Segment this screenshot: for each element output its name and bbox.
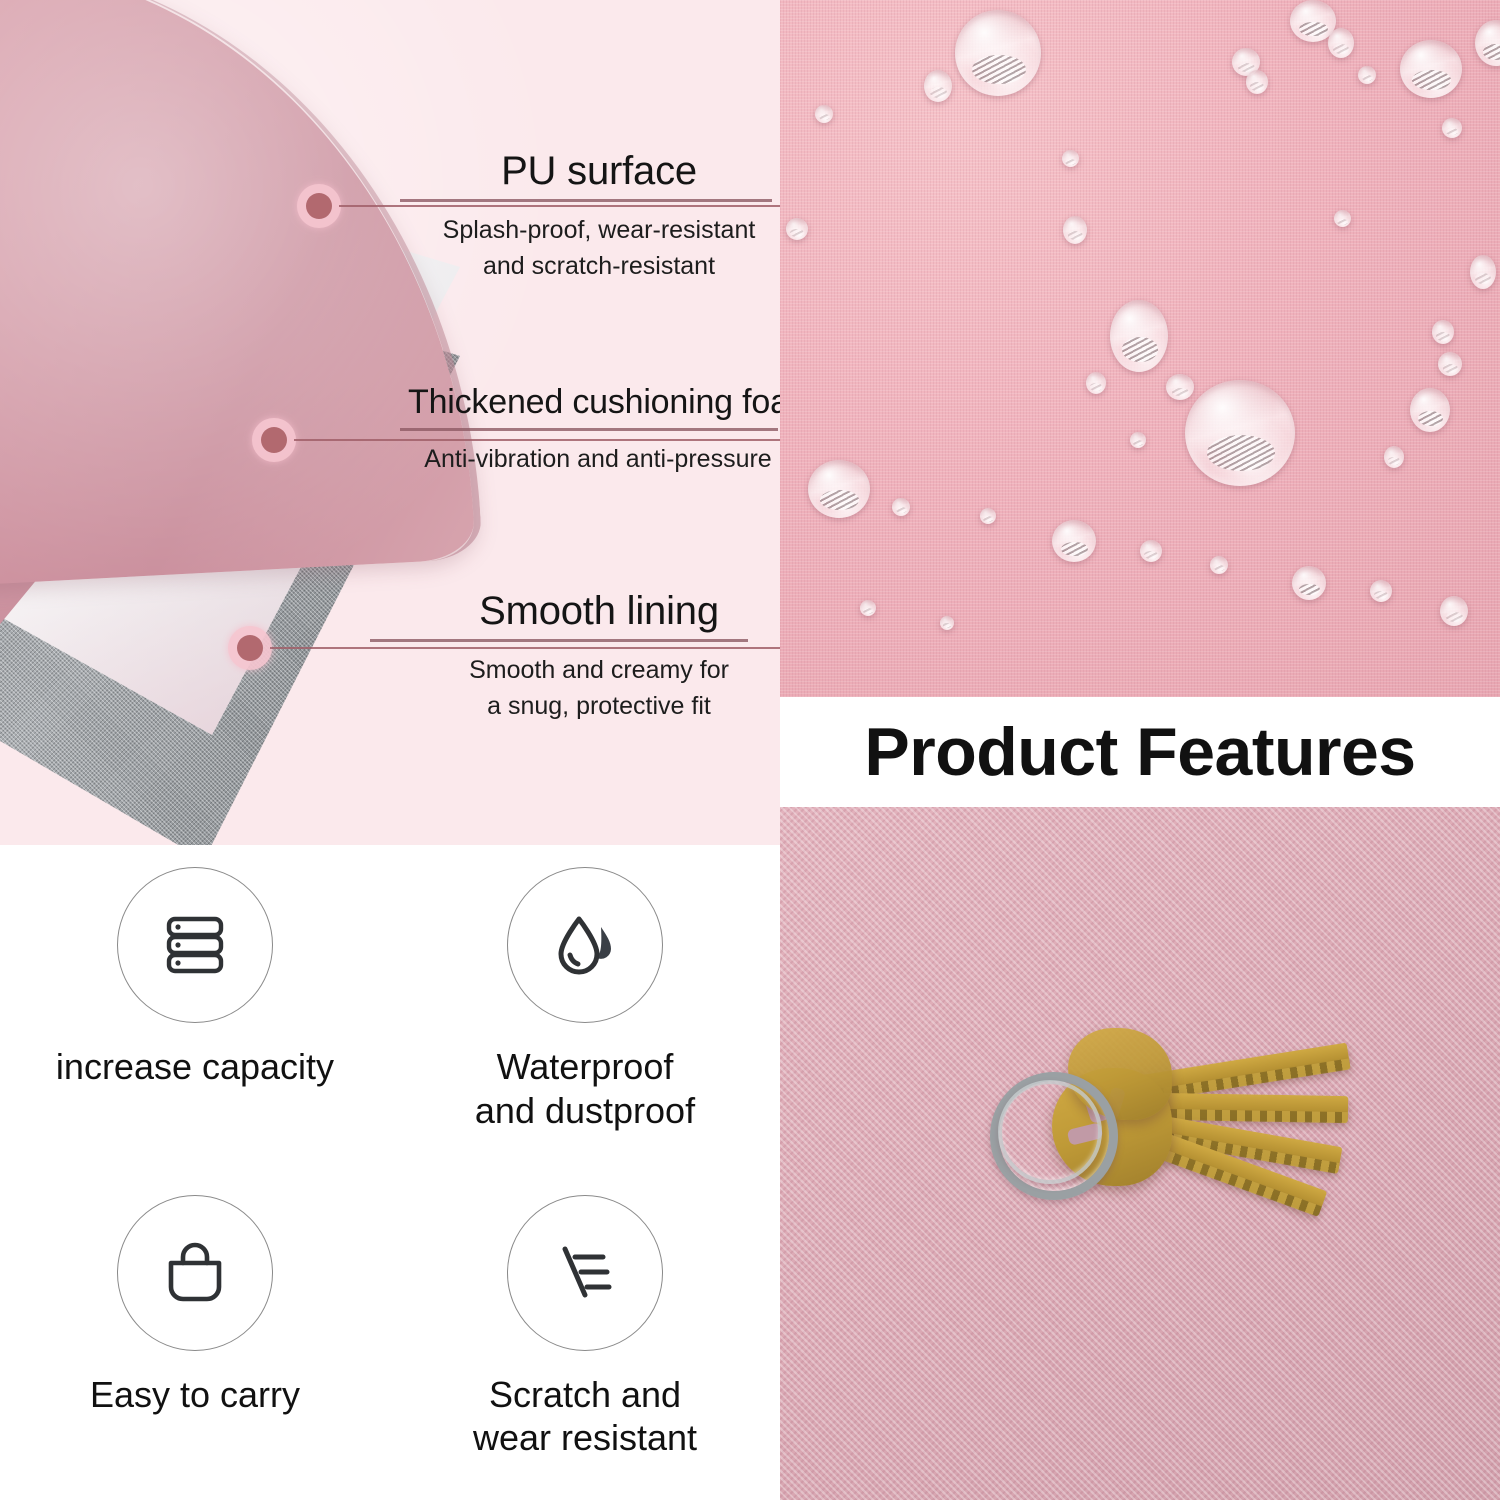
- material-layers-panel: PU surface Splash-proof, wear-resistant …: [0, 0, 780, 845]
- callout-subtitle-line2: a snug, protective fit: [418, 688, 780, 724]
- scratch-lines-icon: [545, 1233, 625, 1313]
- water-droplet: [1440, 596, 1468, 626]
- water-droplet: [1432, 320, 1454, 344]
- water-droplet: [1370, 580, 1392, 602]
- key-bunch: [980, 1022, 1400, 1282]
- water-droplet: [980, 508, 996, 524]
- callout-title: Smooth lining: [418, 590, 780, 632]
- callout-dot-cushioning-foam: [252, 418, 296, 462]
- water-droplet: [1246, 70, 1268, 94]
- water-droplet: [1442, 118, 1462, 138]
- callout-underline: [370, 639, 748, 642]
- feature-icon-circle: [117, 867, 273, 1023]
- pu-surface-layer: [0, 0, 476, 601]
- feature-item-scratch-resistant[interactable]: Scratch and wear resistant: [390, 1173, 780, 1500]
- water-droplet: [1063, 216, 1087, 244]
- water-droplet: [1384, 446, 1404, 468]
- water-droplet: [940, 616, 954, 630]
- water-droplet: [1185, 380, 1295, 486]
- callout-subtitle-line2: and scratch-resistant: [418, 248, 780, 284]
- water-droplet: [1166, 374, 1194, 400]
- water-droplet: [1140, 540, 1162, 562]
- feature-label: increase capacity: [56, 1045, 334, 1089]
- feature-item-easy-to-carry[interactable]: Easy to carry: [0, 1173, 390, 1500]
- water-droplet: [1130, 432, 1146, 448]
- callout-subtitle-line1: Splash-proof, wear-resistant: [418, 212, 780, 248]
- water-droplet: [1438, 352, 1462, 376]
- page-title: Product Features: [864, 713, 1415, 791]
- water-drop-icon: [545, 905, 625, 985]
- water-droplet: [1110, 300, 1168, 372]
- water-droplet: [1475, 20, 1500, 66]
- keys-on-fabric-photo: [780, 807, 1500, 1500]
- feature-label: Waterproof and dustproof: [475, 1045, 695, 1133]
- keyring-inner-loop: [998, 1080, 1102, 1184]
- callout-text-cushioning-foam: Thickened cushioning foam Anti-vibration…: [408, 385, 780, 477]
- feature-item-waterproof[interactable]: Waterproof and dustproof: [390, 845, 780, 1173]
- water-droplet: [1210, 556, 1228, 574]
- water-droplet: [1052, 520, 1096, 562]
- water-droplet: [1334, 210, 1351, 227]
- callout-dot-core: [261, 427, 287, 453]
- callout-dot-smooth-lining: [228, 626, 272, 670]
- water-droplet: [955, 10, 1041, 96]
- water-droplet: [1086, 372, 1106, 394]
- feature-label: Scratch and wear resistant: [473, 1373, 697, 1461]
- water-droplet: [1400, 40, 1462, 98]
- callout-text-pu-surface: PU surface Splash-proof, wear-resistant …: [418, 150, 780, 285]
- product-features-title-band: Product Features: [780, 697, 1500, 807]
- water-droplet: [860, 600, 876, 616]
- callout-subtitle-line1: Smooth and creamy for: [418, 652, 780, 688]
- callout-text-smooth-lining: Smooth lining Smooth and creamy for a sn…: [418, 590, 780, 725]
- callout-title: PU surface: [418, 150, 780, 192]
- feature-icon-circle: [507, 1195, 663, 1351]
- callout-subtitle-line1: Anti-vibration and anti-pressure: [408, 441, 780, 477]
- water-droplet: [808, 460, 870, 518]
- callout-underline: [400, 199, 772, 202]
- water-droplet: [1062, 150, 1079, 167]
- water-droplet: [1292, 566, 1326, 600]
- feature-icon-circle: [507, 867, 663, 1023]
- water-droplet: [1328, 28, 1354, 58]
- waterproof-fabric-photo: [780, 0, 1500, 697]
- water-droplet: [1410, 388, 1450, 432]
- water-droplet: [786, 218, 808, 240]
- callout-dot-core: [306, 193, 332, 219]
- product-infographic: PU surface Splash-proof, wear-resistant …: [0, 0, 1500, 1500]
- handbag-icon: [155, 1233, 235, 1313]
- water-droplet: [1470, 255, 1496, 289]
- water-droplet: [924, 70, 952, 102]
- callout-underline: [400, 428, 778, 431]
- callout-dot-pu-surface: [297, 184, 341, 228]
- feature-icon-circle: [117, 1195, 273, 1351]
- callout-dot-core: [237, 635, 263, 661]
- capacity-stack-icon: [156, 906, 234, 984]
- water-droplet: [892, 498, 910, 516]
- water-droplet: [1358, 66, 1376, 84]
- features-grid-panel: increase capacity Waterproof and dustpro…: [0, 845, 780, 1500]
- feature-label: Easy to carry: [90, 1373, 300, 1417]
- water-droplet: [815, 105, 833, 123]
- feature-item-increase-capacity[interactable]: increase capacity: [0, 845, 390, 1173]
- callout-title: Thickened cushioning foam: [408, 385, 780, 421]
